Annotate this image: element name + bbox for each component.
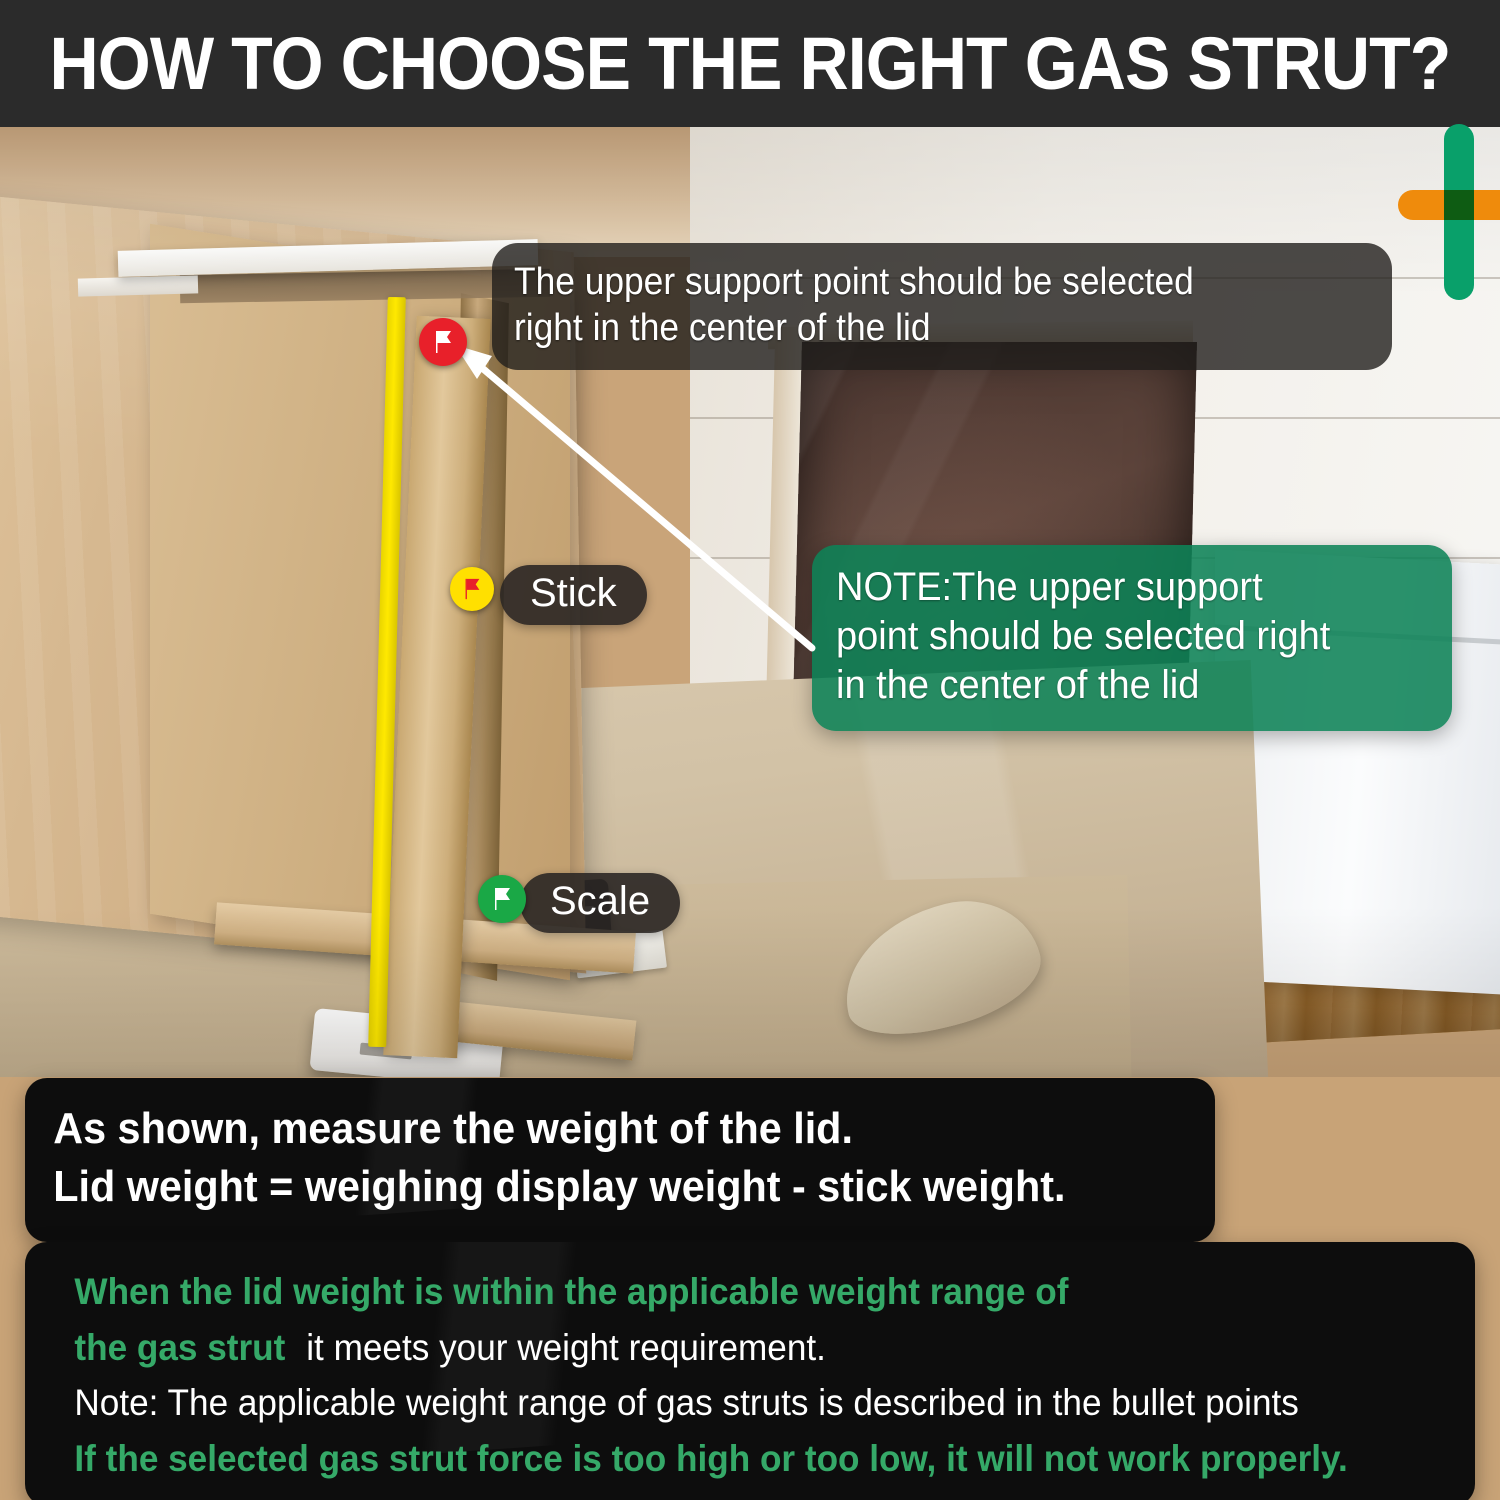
chip-stick: Stick (500, 565, 647, 625)
range-line-4-text: If the selected gas strut force is too h… (74, 1438, 1347, 1479)
note-line-3: in the center of the lid (836, 661, 1402, 710)
support-point-pin[interactable] (419, 318, 467, 366)
flag-icon (430, 329, 456, 355)
range-line-3: Note: The applicable weight range of gas… (25, 1375, 1403, 1431)
callout-line-1: The upper support point should be select… (514, 259, 1310, 305)
plus-intersection (1444, 190, 1474, 220)
callout-upper-support: The upper support point should be select… (492, 243, 1392, 370)
note-line-2: point should be selected right (836, 612, 1402, 661)
scale-pin[interactable] (478, 875, 526, 923)
instruction-line-2: Lid weight = weighing display weight - s… (25, 1158, 1144, 1216)
white-board-secondary (78, 275, 198, 296)
flag-icon (460, 577, 484, 601)
header-bar: HOW TO CHOOSE THE RIGHT GAS STRUT? (0, 0, 1500, 127)
chip-scale: Scale (520, 873, 680, 933)
weight-range-box: When the lid weight is within the applic… (25, 1242, 1475, 1500)
range-line-2-green: the gas strut (74, 1327, 285, 1368)
range-line-4: If the selected gas strut force is too h… (25, 1431, 1403, 1487)
note-box: NOTE:The upper support point should be s… (812, 545, 1452, 731)
range-line-2: the gas strutit meets your weight requir… (25, 1320, 1403, 1376)
page-title: HOW TO CHOOSE THE RIGHT GAS STRUT? (60, 0, 1440, 127)
range-line-1: When the lid weight is within the applic… (25, 1264, 1403, 1320)
stick-pin[interactable] (450, 567, 494, 611)
range-line-1-text: When the lid weight is within the applic… (74, 1271, 1068, 1312)
range-line-2-white: it meets your weight requirement. (306, 1327, 826, 1368)
infographic-root: HOW TO CHOOSE THE RIGHT GAS STRUT? (0, 0, 1500, 1500)
flag-icon (489, 886, 515, 912)
callout-line-2: right in the center of the lid (514, 305, 1310, 351)
instruction-box: As shown, measure the weight of the lid.… (25, 1078, 1215, 1242)
plus-decoration (1398, 124, 1500, 304)
note-line-1: NOTE:The upper support (836, 563, 1402, 612)
range-line-3-text: Note: The applicable weight range of gas… (74, 1382, 1298, 1423)
instruction-line-1: As shown, measure the weight of the lid. (25, 1100, 1144, 1158)
